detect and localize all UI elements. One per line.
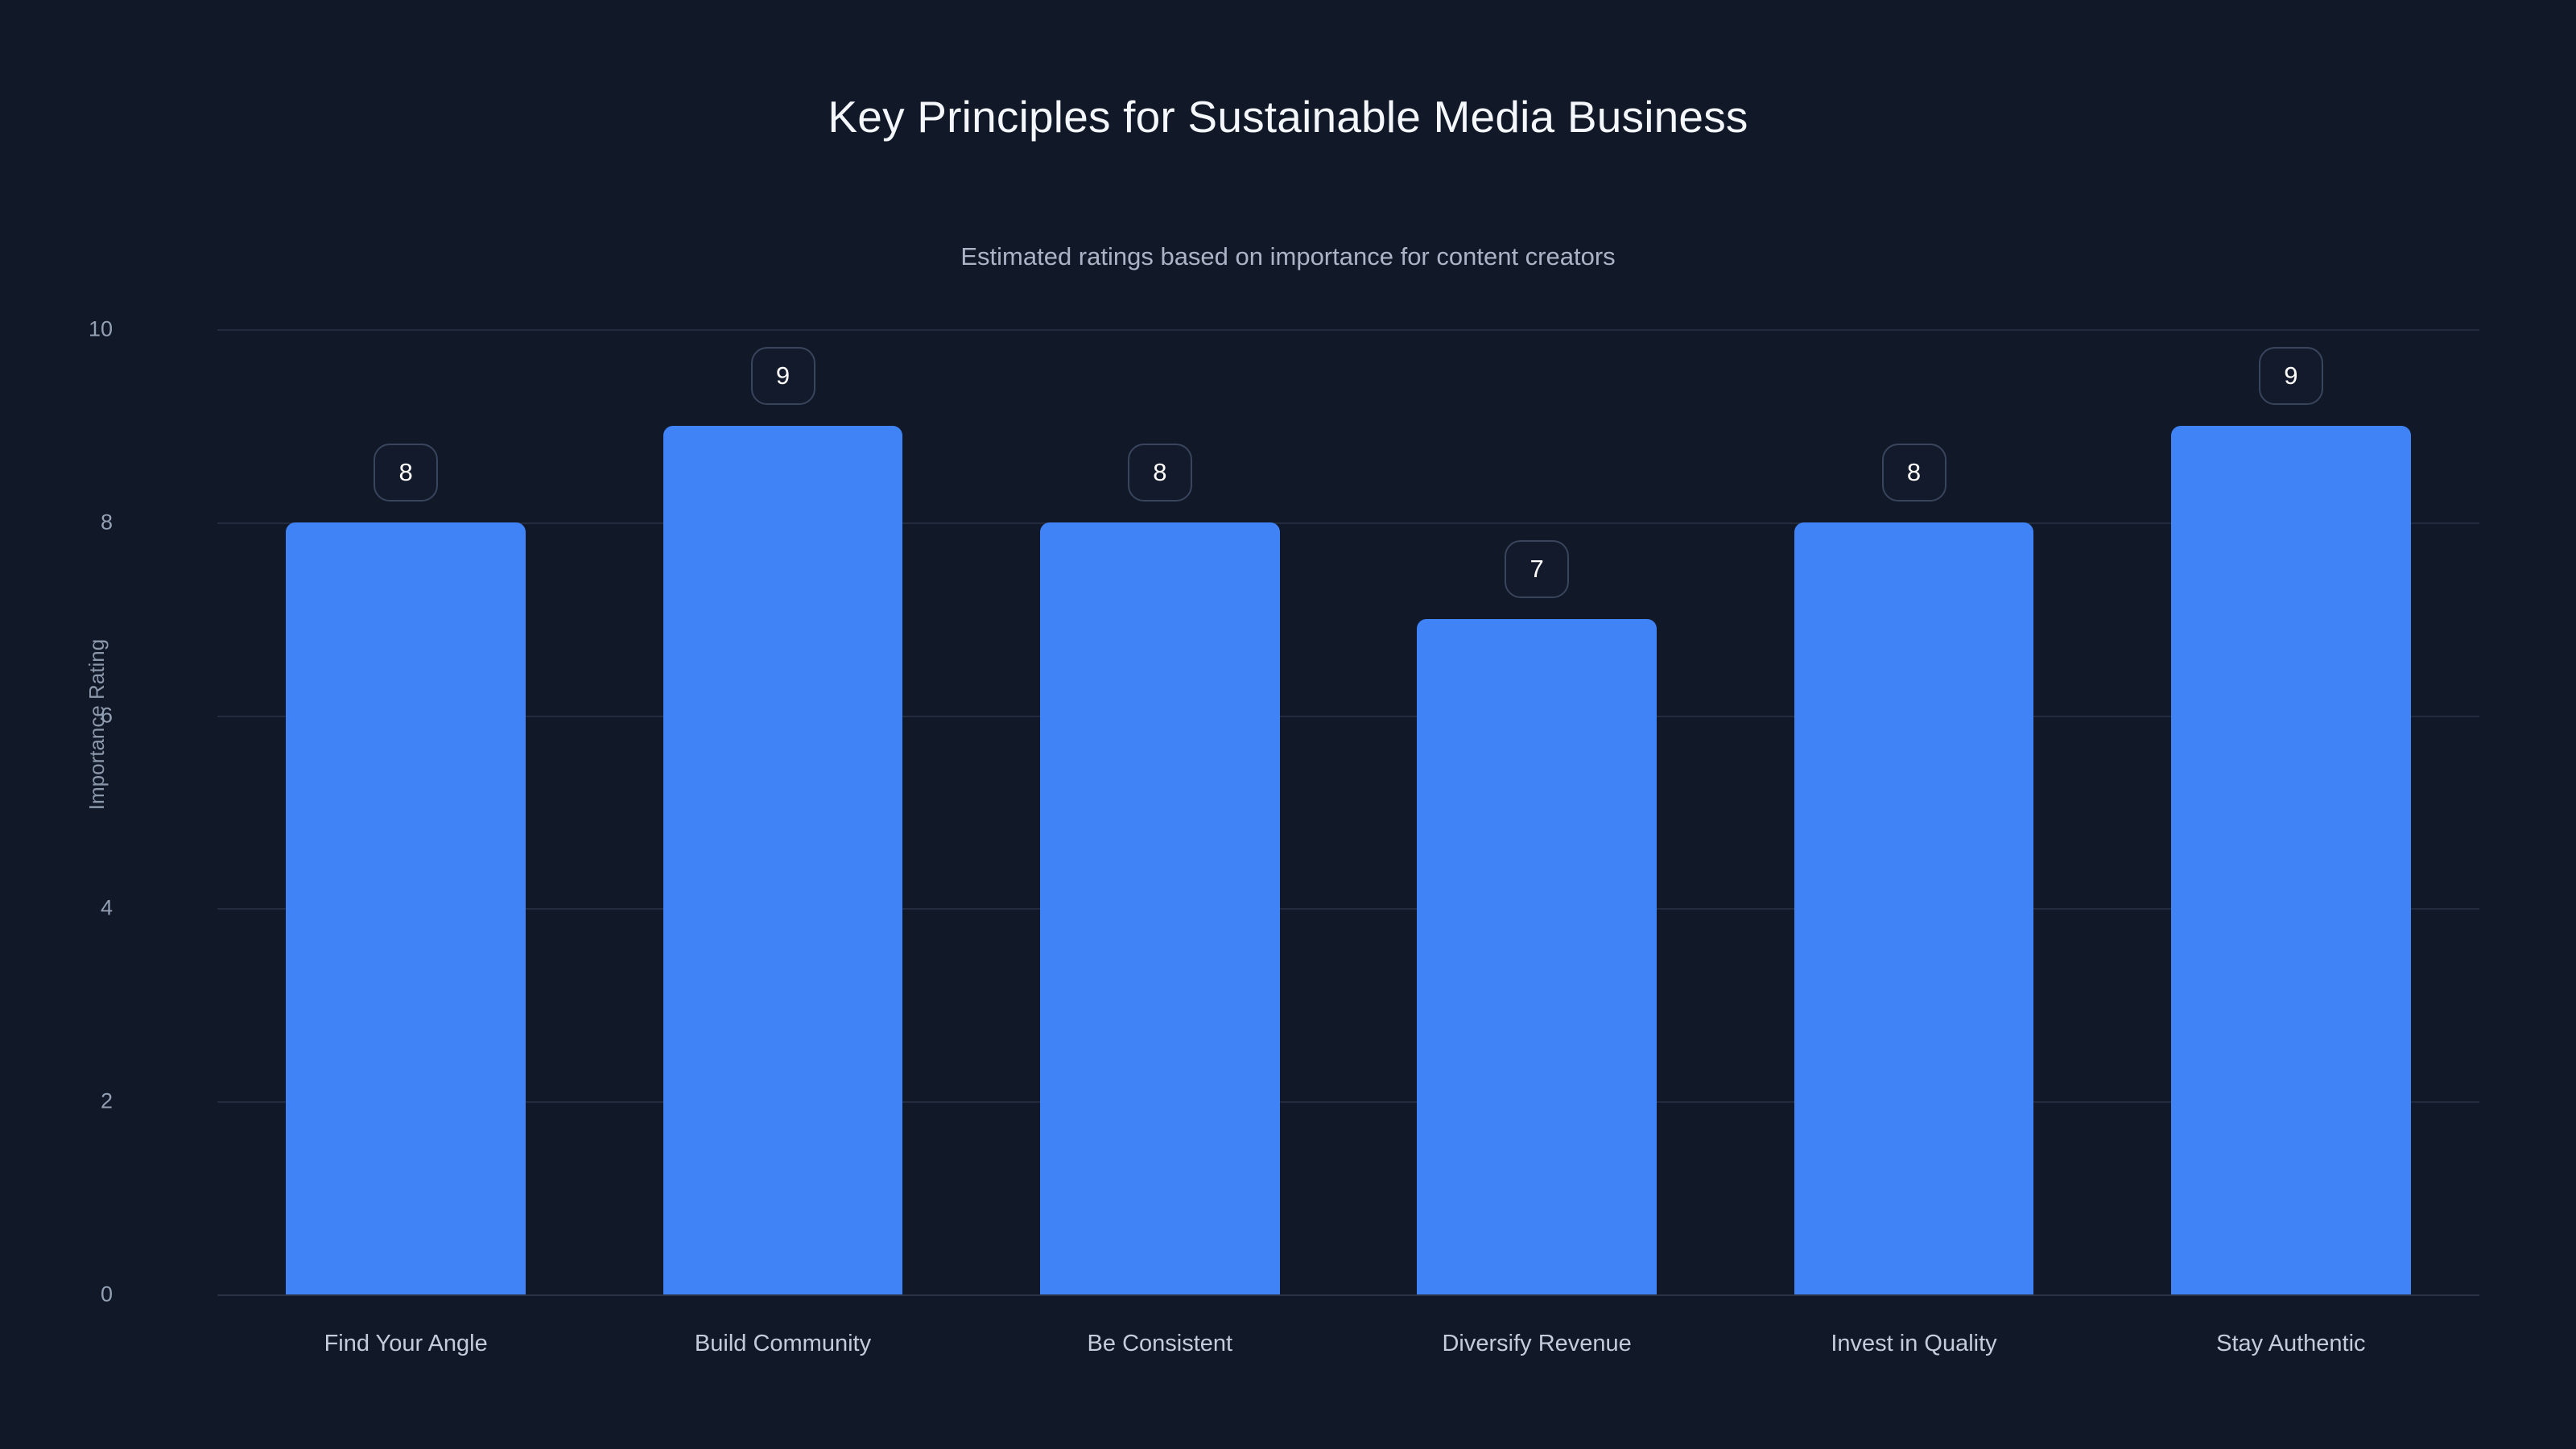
y-axis-tick-label: 8 — [16, 511, 113, 533]
bar-value-badge: 8 — [1882, 444, 1946, 502]
chart-title: Key Principles for Sustainable Media Bus… — [0, 93, 2576, 142]
x-axis-tick-label: Stay Authentic — [2216, 1332, 2365, 1356]
gridline — [217, 329, 2479, 331]
bar[interactable] — [2171, 426, 2411, 1294]
y-axis-tick-label: 10 — [16, 319, 113, 341]
bar-value-badge: 9 — [2259, 347, 2323, 405]
gridline — [217, 908, 2479, 910]
y-axis-tick-label: 2 — [16, 1091, 113, 1113]
bar[interactable] — [1040, 522, 1280, 1294]
x-axis-tick-label: Invest in Quality — [1831, 1332, 1996, 1356]
x-axis-tick-label: Find Your Angle — [324, 1332, 488, 1356]
bar-value-badge: 8 — [374, 444, 438, 502]
bar-value-badge: 8 — [1128, 444, 1192, 502]
gridline — [217, 1294, 2479, 1296]
chart-subtitle: Estimated ratings based on importance fo… — [0, 243, 2576, 270]
gridline — [217, 1101, 2479, 1103]
bar-chart: Key Principles for Sustainable Media Bus… — [0, 0, 2576, 1449]
x-axis-tick-label: Build Community — [695, 1332, 871, 1356]
gridline — [217, 522, 2479, 524]
y-axis-tick-label: 6 — [16, 704, 113, 726]
bar[interactable] — [1794, 522, 2034, 1294]
bar[interactable] — [286, 522, 526, 1294]
bar[interactable] — [1417, 619, 1657, 1294]
gridline — [217, 716, 2479, 717]
x-axis-tick-label: Diversify Revenue — [1442, 1332, 1631, 1356]
x-axis-tick-label: Be Consistent — [1088, 1332, 1233, 1356]
bar-value-badge: 9 — [751, 347, 815, 405]
y-axis-tick-label: 4 — [16, 898, 113, 919]
y-axis-tick-label: 0 — [16, 1284, 113, 1306]
plot-area — [217, 329, 2479, 1294]
bar-value-badge: 7 — [1505, 540, 1569, 598]
bar[interactable] — [663, 426, 903, 1294]
